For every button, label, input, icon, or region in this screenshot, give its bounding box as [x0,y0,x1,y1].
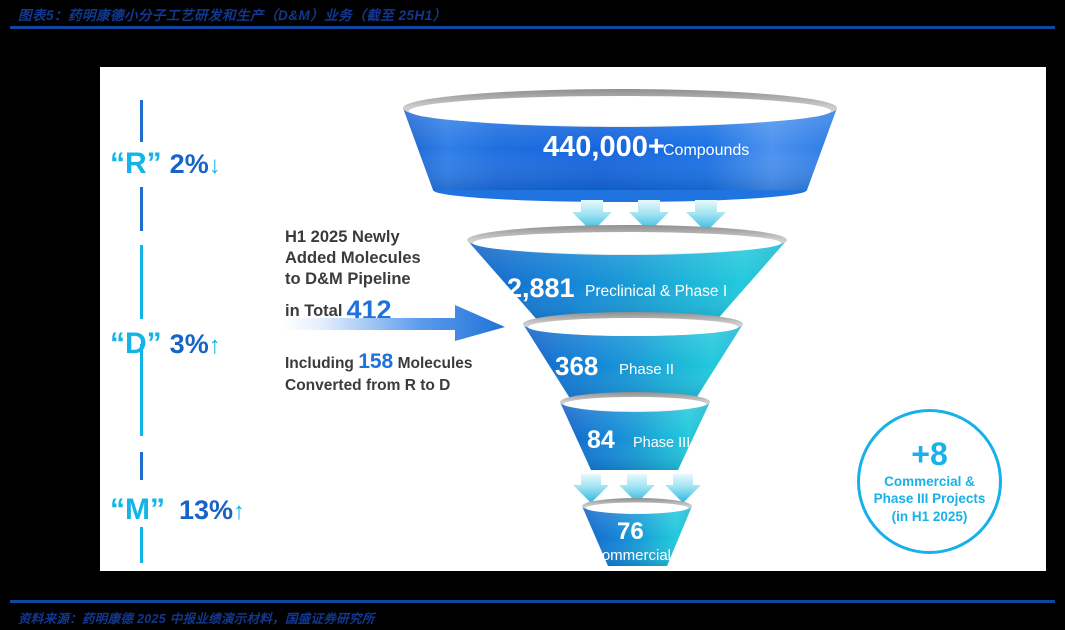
stage-label-r: “R”2%↓ [110,149,221,179]
stage-pct-r: 2% [170,149,209,179]
tier-2-caption: Preclinical & Phase I [585,283,727,300]
stage-letter-d: “D” [110,327,162,360]
funnel-chart: 440,000+ Compounds 2,881 Preclinical & P… [395,82,845,567]
badge-value: +8 [911,438,947,470]
tier-2-value: 2,881 [507,273,575,303]
axis-segment-r-bottom [140,187,143,231]
tier-4-caption: Phase III [633,435,690,451]
source-note: 资料来源：药明康德 2025 中报业绩演示材料，国盛证券研究所 [18,608,375,627]
stage-trend-arrow-down-icon: ↓ [209,152,221,179]
callout-sub-value: 158 [358,350,393,373]
status-badge: +8 Commercial & Phase III Projects (in H… [857,409,1002,554]
tier-5-value: 76 [617,518,644,545]
stage-trend-arrow-up-icon-m: ↑ [233,498,245,525]
stage-pct-m: 13% [179,495,233,525]
stage-letter-m: “M” [110,493,165,526]
stage-trend-arrow-up-icon: ↑ [209,332,221,359]
axis-segment-m-top [140,452,143,480]
page-title: 图表5：药明康德小分子工艺研发和生产（D&M）业务（截至 25H1） [18,4,447,24]
header-divider [10,26,1055,29]
tier-4-value: 84 [587,426,615,454]
badge-line-2: Phase III Projects [874,490,986,507]
badge-line-3: (in H1 2025) [892,508,968,525]
stage-letter-r: “R” [110,147,162,180]
funnel-svg: 440,000+ Compounds 2,881 Preclinical & P… [395,82,845,567]
tier-1-caption: Compounds [663,142,749,159]
tier-1-value: 440,000+ [543,131,665,163]
tier-3-caption: Phase II [619,361,674,378]
badge-line-1: Commercial & [884,473,975,490]
tier-3-value: 368 [555,351,598,381]
stage-pct-d: 3% [170,329,209,359]
funnel-tier-4 [560,392,710,470]
footer-divider [10,600,1055,603]
axis-segment-r-top [140,100,143,142]
axis-segment-m-bottom [140,527,143,563]
axis-segment-d-top [140,245,143,319]
stage-label-d: “D”3%↑ [110,329,221,359]
callout-sub-prefix: Including [285,355,354,372]
stage-label-m: “M”13%↑ [110,495,245,525]
tier-5-caption: Commercial [591,547,671,564]
